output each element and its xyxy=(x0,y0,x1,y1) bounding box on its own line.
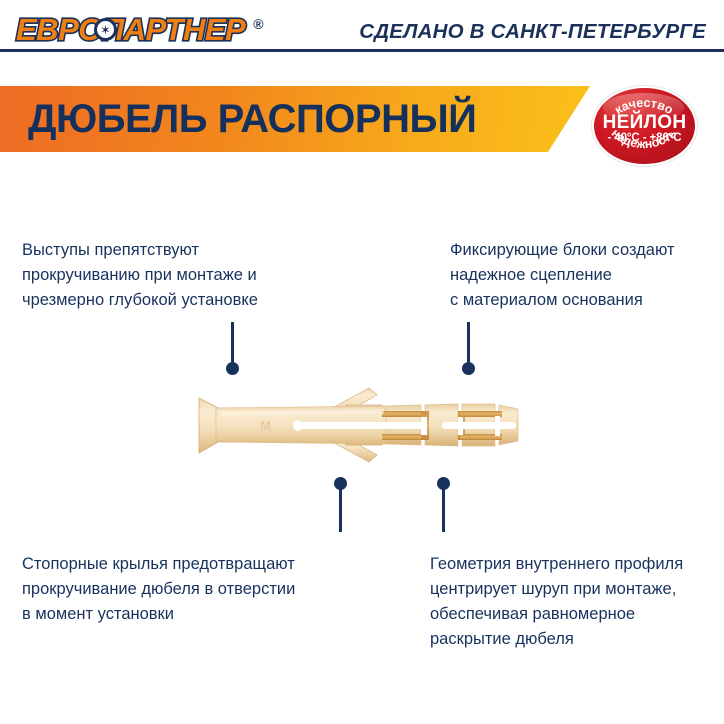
badge-material-label: НЕЙЛОН xyxy=(594,112,695,134)
callout-line: в момент установки xyxy=(22,602,295,627)
registered-trademark-symbol: ® xyxy=(253,16,263,32)
dowel-collar xyxy=(199,398,218,453)
callout-line: центрирует шуруп при монтаже, xyxy=(430,577,683,602)
infographic-page: ЕВРОПАРТНЕР ✶ ® СДЕЛАНО В САНКТ-ПЕТЕРБУР… xyxy=(0,0,724,724)
pointer-dot-bottom-right xyxy=(437,477,450,490)
callout-line: Стопорные крылья предотвращают xyxy=(22,552,295,577)
dowel-drawing: М xyxy=(196,378,526,474)
page-header: ЕВРОПАРТНЕР ✶ ® СДЕЛАНО В САНКТ-ПЕТЕРБУР… xyxy=(0,0,724,50)
callout-line: надежное сцепление xyxy=(450,263,675,288)
brand-logo: ЕВРОПАРТНЕР ✶ ® xyxy=(16,14,264,45)
callout-line: прокручивание дюбеля в отверстии xyxy=(22,577,295,602)
callout-bottom-right: Геометрия внутреннего профиля центрирует… xyxy=(430,552,683,652)
pointer-dot-bottom-left xyxy=(334,477,347,490)
quality-badge: качество надежность НЕЙЛОН - 40°C - +80°… xyxy=(592,86,697,166)
callout-line: раскрытие дюбеля xyxy=(430,627,683,652)
product-image-dowel: М xyxy=(196,378,526,474)
callout-top-left: Выступы препятствуют прокручиванию при м… xyxy=(22,238,258,313)
callout-line: прокручиванию при монтаже и xyxy=(22,263,258,288)
callout-bottom-left: Стопорные крылья предотвращают прокручив… xyxy=(22,552,295,627)
callout-top-right: Фиксирующие блоки создают надежное сцепл… xyxy=(450,238,675,313)
callout-line: чрезмерно глубокой установке xyxy=(22,288,258,313)
star-glyph: ✶ xyxy=(100,23,111,36)
badge-temperature-label: - 40°C - +80°C xyxy=(594,132,695,144)
header-tagline: СДЕЛАНО В САНКТ-ПЕТЕРБУРГЕ xyxy=(359,20,706,44)
callout-line: с материалом основания xyxy=(450,288,675,313)
callout-line: Геометрия внутреннего профиля xyxy=(430,552,683,577)
callout-line: обеспечивая равномерное xyxy=(430,602,683,627)
pointer-line-top-right xyxy=(467,322,470,366)
callout-line: Выступы препятствуют xyxy=(22,238,258,263)
pointer-line-bottom-left xyxy=(339,484,342,532)
dowel-size-marking: М xyxy=(260,418,271,433)
callout-line: Фиксирующие блоки создают xyxy=(450,238,675,263)
brand-logo-text: ЕВРОПАРТНЕР xyxy=(16,14,245,45)
pointer-dot-top-left xyxy=(226,362,239,375)
pointer-dot-top-right xyxy=(462,362,475,375)
pointer-line-bottom-right xyxy=(442,484,445,532)
star-emblem-icon: ✶ xyxy=(94,18,117,41)
page-title: ДЮБЕЛЬ РАСПОРНЫЙ xyxy=(28,88,476,150)
header-divider xyxy=(0,49,724,52)
pointer-line-top-left xyxy=(231,322,234,366)
